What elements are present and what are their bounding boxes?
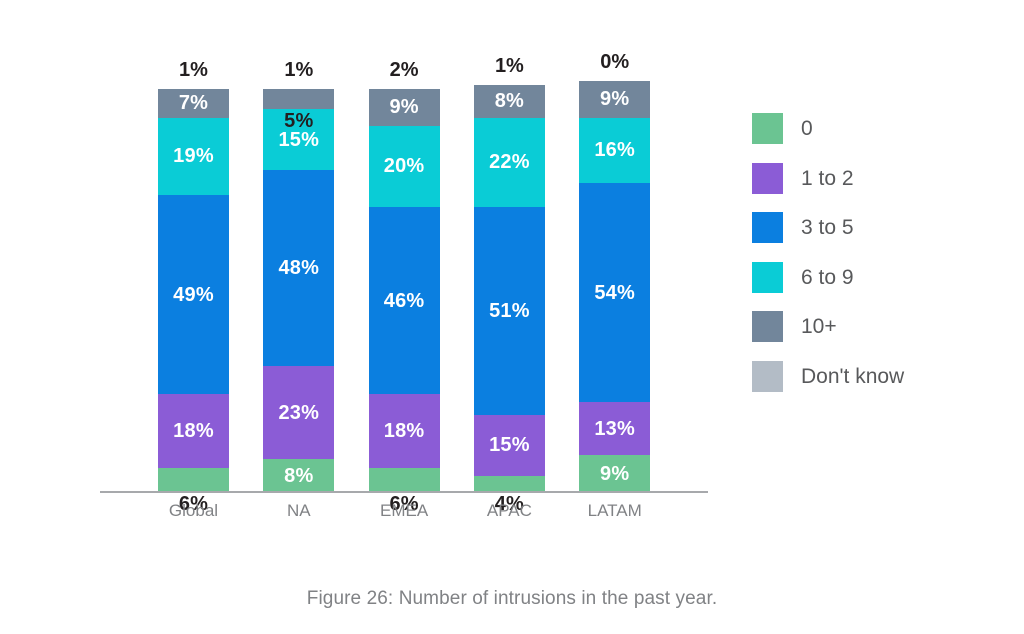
legend-item[interactable]: 10+ xyxy=(752,302,904,352)
bar-segment[interactable]: 13% xyxy=(579,402,650,455)
bar-segment-label: 19% xyxy=(173,146,214,166)
legend-item[interactable]: 0 xyxy=(752,104,904,154)
bar-segment-label: 20% xyxy=(384,156,425,176)
bar-segment[interactable]: 6% xyxy=(158,468,229,492)
bar-segment[interactable]: 19% xyxy=(158,118,229,195)
bar-top-label: 1% xyxy=(263,60,334,80)
legend-label: 6 to 9 xyxy=(801,267,854,288)
legend-swatch-icon xyxy=(752,262,783,293)
stacked-bar[interactable]: 8%23%48%15%5% xyxy=(263,89,334,492)
bar-group: 9%13%54%16%9%0% xyxy=(579,40,650,492)
bar-segment-label: 51% xyxy=(489,301,530,321)
x-axis-tick-na: NA xyxy=(239,501,359,521)
legend-item[interactable]: 1 to 2 xyxy=(752,154,904,204)
bar-segment[interactable]: 15% xyxy=(474,415,545,476)
legend-label: 3 to 5 xyxy=(801,217,854,238)
bar-segment-label: 16% xyxy=(594,140,635,160)
bar-segment-label: 54% xyxy=(594,283,635,303)
bar-top-label: 2% xyxy=(369,60,440,80)
legend-swatch-icon xyxy=(752,212,783,243)
bar-segment-label: 48% xyxy=(278,258,319,278)
bar-segment[interactable]: 9% xyxy=(579,455,650,492)
bar-segment-label: 46% xyxy=(384,291,425,311)
figure-container: 6%18%49%19%7%1%8%23%48%15%5%1%6%18%46%20… xyxy=(0,0,1024,634)
bar-segment[interactable]: 51% xyxy=(474,207,545,415)
bar-segment-label: 15% xyxy=(489,435,530,455)
bar-segment-label: 18% xyxy=(384,421,425,441)
bar-segment-label: 18% xyxy=(173,421,214,441)
bar-segment[interactable]: 5% xyxy=(263,89,334,109)
legend-swatch-icon xyxy=(752,113,783,144)
bar-segment[interactable]: 16% xyxy=(579,118,650,183)
legend-item[interactable]: 3 to 5 xyxy=(752,203,904,253)
x-axis-tick-apac: APAC xyxy=(449,501,569,521)
bar-segment-label: 9% xyxy=(600,89,629,109)
bar-segment-label: 9% xyxy=(389,97,418,117)
legend-label: 0 xyxy=(801,118,813,139)
bar-segment-label: 7% xyxy=(179,93,208,113)
bar-segment[interactable]: 20% xyxy=(369,126,440,207)
legend-label: 10+ xyxy=(801,316,837,337)
legend-swatch-icon xyxy=(752,311,783,342)
bar-group: 4%15%51%22%8%1% xyxy=(474,40,545,492)
bar-segment[interactable]: 6% xyxy=(369,468,440,492)
bar-segment[interactable]: 22% xyxy=(474,118,545,208)
bar-segment[interactable]: 46% xyxy=(369,207,440,394)
stacked-bar[interactable]: 6%18%49%19%7% xyxy=(158,89,229,492)
legend-swatch-icon xyxy=(752,163,783,194)
chart-legend: 01 to 23 to 56 to 910+Don't know xyxy=(752,104,904,401)
stacked-bar[interactable]: 9%13%54%16%9% xyxy=(579,81,650,492)
bar-group: 6%18%46%20%9%2% xyxy=(369,40,440,492)
bar-top-label: 0% xyxy=(579,52,650,72)
figure-caption: Figure 26: Number of intrusions in the p… xyxy=(0,588,1024,610)
bar-segment-label: 8% xyxy=(284,466,313,486)
bar-segment[interactable]: 23% xyxy=(263,366,334,460)
x-axis-line xyxy=(100,491,708,493)
chart-plot-area: 6%18%49%19%7%1%8%23%48%15%5%1%6%18%46%20… xyxy=(100,40,710,492)
bar-segment[interactable]: 48% xyxy=(263,170,334,365)
stacked-bar[interactable]: 4%15%51%22%8% xyxy=(474,85,545,492)
bar-segment[interactable]: 4% xyxy=(474,476,545,492)
bar-segment[interactable]: 7% xyxy=(158,89,229,117)
legend-swatch-icon xyxy=(752,361,783,392)
bar-group: 6%18%49%19%7%1% xyxy=(158,40,229,492)
bar-segment-label: 5% xyxy=(284,111,313,131)
bar-segment[interactable]: 18% xyxy=(369,394,440,467)
bar-group: 8%23%48%15%5%1% xyxy=(263,40,334,492)
legend-label: 1 to 2 xyxy=(801,168,854,189)
bar-segment[interactable]: 8% xyxy=(474,85,545,118)
bar-top-label: 1% xyxy=(158,60,229,80)
stacked-bar[interactable]: 6%18%46%20%9% xyxy=(369,89,440,492)
x-axis-tick-emea: EMEA xyxy=(344,501,464,521)
bar-top-label: 1% xyxy=(474,56,545,76)
bar-segment[interactable]: 54% xyxy=(579,183,650,403)
bar-segment-label: 8% xyxy=(495,91,524,111)
bar-segment[interactable]: 49% xyxy=(158,195,229,394)
legend-item[interactable]: 6 to 9 xyxy=(752,253,904,303)
bar-segment[interactable]: 9% xyxy=(579,81,650,118)
legend-item[interactable]: Don't know xyxy=(752,352,904,402)
legend-label: Don't know xyxy=(801,366,904,387)
x-axis-tick-global: Global xyxy=(134,501,254,521)
bar-segment-label: 23% xyxy=(278,403,319,423)
bar-segment-label: 15% xyxy=(278,130,319,150)
bar-segment-label: 49% xyxy=(173,285,214,305)
bar-segment[interactable]: 18% xyxy=(158,394,229,467)
bar-segment-label: 9% xyxy=(600,464,629,484)
x-axis-tick-latam: LATAM xyxy=(555,501,675,521)
bar-segment-label: 13% xyxy=(594,419,635,439)
bar-segment-label: 22% xyxy=(489,152,530,172)
bar-segment[interactable]: 9% xyxy=(369,89,440,126)
bar-segment[interactable]: 8% xyxy=(263,459,334,492)
